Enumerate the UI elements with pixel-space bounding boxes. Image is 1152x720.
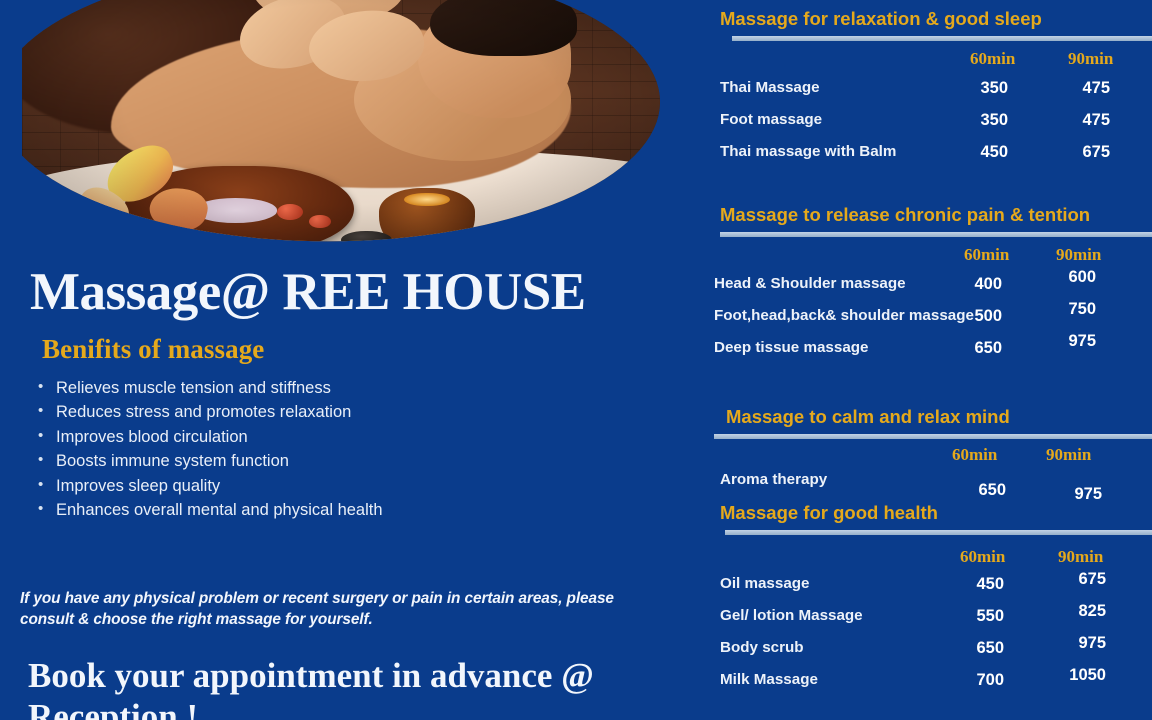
booking-call-to-action: Book your appointment in advance @ Recep… [28, 655, 668, 720]
price-section-good-health: Massage for good health 60min 90min Oil … [700, 502, 1152, 703]
column-header-60min: 60min [952, 445, 997, 465]
price-rows: Head & Shoulder massage 400 600 Foot,hea… [714, 275, 1152, 371]
service-name: Thai massage with Balm [720, 143, 896, 160]
price-rows: Oil massage 450 675 Gel/ lotion Massage … [720, 575, 1152, 703]
service-name: Aroma therapy [720, 471, 827, 488]
price-90min: 475 [1054, 111, 1110, 130]
spa-massage-photo [22, 0, 660, 252]
table-row: Milk Massage 700 1050 [720, 671, 1152, 703]
service-name: Head & Shoulder massage [714, 275, 906, 292]
price-90min: 675 [1050, 570, 1106, 589]
section-title: Massage for good health [720, 502, 1152, 524]
section-title: Massage for relaxation & good sleep [720, 8, 1152, 30]
price-60min: 650 [948, 639, 1004, 658]
table-row: Foot massage 350 475 [720, 111, 1152, 143]
column-header-90min: 90min [1068, 49, 1113, 69]
price-60min: 500 [946, 307, 1002, 326]
section-divider [732, 36, 1152, 41]
price-60min: 350 [952, 79, 1008, 98]
section-divider [725, 530, 1152, 535]
price-90min: 975 [1050, 634, 1106, 653]
table-row: Deep tissue massage 650 975 [714, 339, 1152, 371]
column-header-60min: 60min [970, 49, 1015, 69]
column-header-90min: 90min [1056, 245, 1101, 265]
price-90min: 675 [1054, 143, 1110, 162]
page-title: Massage@ REE HOUSE [30, 265, 586, 320]
photo-vignette [22, 0, 660, 252]
list-item: Improves sleep quality [36, 474, 556, 498]
price-60min: 650 [950, 481, 1006, 500]
price-section-chronic-pain: Massage to release chronic pain & tentio… [700, 204, 1152, 371]
price-60min: 700 [948, 671, 1004, 690]
list-item: Enhances overall mental and physical hea… [36, 498, 556, 522]
price-90min: 475 [1054, 79, 1110, 98]
price-60min: 400 [946, 275, 1002, 294]
price-90min: 1050 [1050, 666, 1106, 685]
section-divider [720, 232, 1152, 237]
price-section-relaxation: Massage for relaxation & good sleep 60mi… [700, 8, 1152, 175]
price-60min: 350 [952, 111, 1008, 130]
section-title: Massage to release chronic pain & tentio… [720, 204, 1152, 226]
column-header-90min: 90min [1058, 547, 1103, 567]
service-name: Gel/ lotion Massage [720, 607, 863, 624]
price-90min: 750 [1040, 300, 1096, 319]
price-60min: 650 [946, 339, 1002, 358]
benefits-heading: Benifits of massage [42, 334, 264, 365]
list-item: Reduces stress and promotes relaxation [36, 400, 556, 424]
column-header-90min: 90min [1046, 445, 1091, 465]
price-list-panel: Massage for relaxation & good sleep 60mi… [700, 0, 1152, 720]
price-90min: 600 [1040, 268, 1096, 287]
price-60min: 450 [948, 575, 1004, 594]
service-name: Oil massage [720, 575, 810, 592]
column-headers: 60min 90min [700, 49, 1152, 73]
left-panel: Massage@ REE HOUSE Benifits of massage R… [0, 0, 700, 720]
service-name: Thai Massage [720, 79, 820, 96]
price-rows: Thai Massage 350 475 Foot massage 350 47… [720, 79, 1152, 175]
list-item: Boosts immune system function [36, 449, 556, 473]
column-header-60min: 60min [964, 245, 1009, 265]
price-90min: 975 [1040, 332, 1096, 351]
service-name: Milk Massage [720, 671, 818, 688]
price-list-poster: Massage@ REE HOUSE Benifits of massage R… [0, 0, 1152, 720]
column-headers: 60min 90min [700, 245, 1152, 269]
list-item: Improves blood circulation [36, 425, 556, 449]
price-90min: 825 [1050, 602, 1106, 621]
column-headers: 60min 90min [700, 445, 1152, 469]
column-headers: 60min 90min [700, 547, 1152, 571]
section-title: Massage to calm and relax mind [726, 406, 1152, 428]
section-divider [714, 434, 1152, 439]
service-name: Foot massage [720, 111, 822, 128]
service-name: Deep tissue massage [714, 339, 869, 356]
list-item: Relieves muscle tension and stiffness [36, 376, 556, 400]
health-disclaimer: If you have any physical problem or rece… [20, 588, 652, 630]
benefits-list: Relieves muscle tension and stiffness Re… [36, 376, 556, 522]
table-row: Thai Massage 350 475 [720, 79, 1152, 111]
table-row: Thai massage with Balm 450 675 [720, 143, 1152, 175]
column-header-60min: 60min [960, 547, 1005, 567]
price-60min: 450 [952, 143, 1008, 162]
service-name: Foot,head,back& shoulder massage [714, 307, 974, 324]
price-60min: 550 [948, 607, 1004, 626]
service-name: Body scrub [720, 639, 804, 656]
